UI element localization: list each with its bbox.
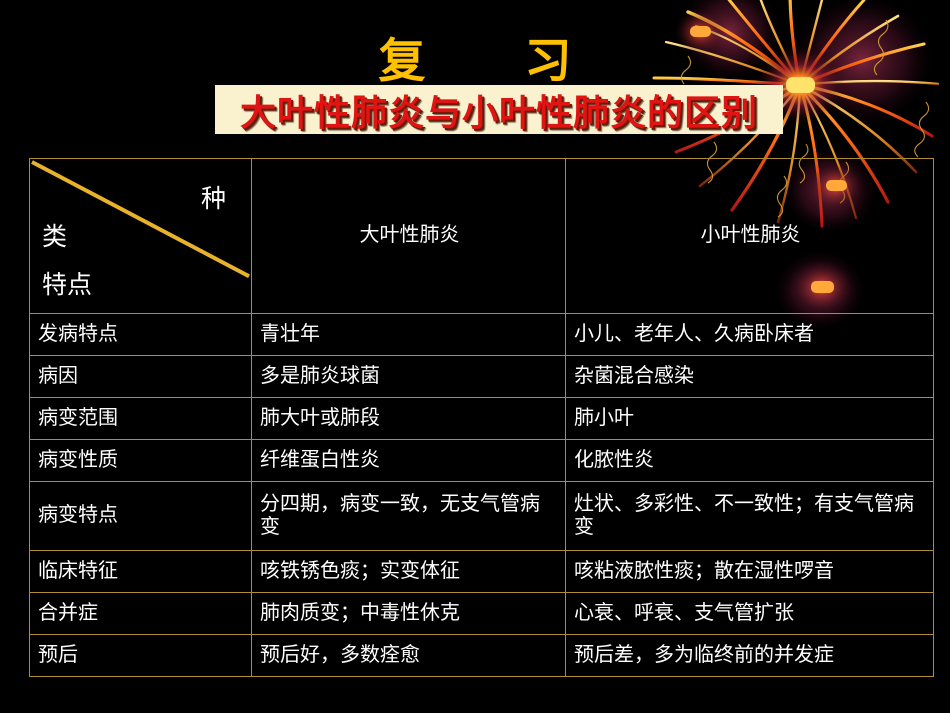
- row-value-lobar: 多是肺炎球菌: [252, 356, 566, 398]
- row-value-lobular: 化脓性炎: [566, 440, 934, 482]
- corner-inner: 种 类 特点: [30, 159, 251, 313]
- row-value-lobar: 青壮年: [252, 314, 566, 356]
- column-header-lobar: 大叶性肺炎: [252, 159, 566, 314]
- corner-label-category-axis: 种: [201, 185, 226, 214]
- row-value-lobular: 心衰、呼衰、支气管扩张: [566, 593, 934, 635]
- table-row: 合并症 肺肉质变；中毒性休克 心衰、呼衰、支气管扩张: [30, 593, 934, 635]
- row-value-lobular: 灶状、多彩性、不一致性；有支气管病变: [566, 482, 934, 551]
- banner-title-text: 大叶性肺炎与小叶性肺炎的区别: [240, 84, 758, 136]
- corner-header-cell: 种 类 特点: [30, 159, 252, 314]
- table-row: 发病特点 青壮年 小儿、老年人、久病卧床者: [30, 314, 934, 356]
- row-value-lobular: 预后差，多为临终前的并发症: [566, 635, 934, 677]
- corner-label-feature: 特点: [42, 271, 92, 300]
- table-row: 病因 多是肺炎球菌 杂菌混合感染: [30, 356, 934, 398]
- row-feature-label: 病变性质: [30, 440, 252, 482]
- table-row: 病变性质 纤维蛋白性炎 化脓性炎: [30, 440, 934, 482]
- table-row: 临床特征 咳铁锈色痰；实变体征 咳粘液脓性痰；散在湿性啰音: [30, 551, 934, 593]
- row-value-lobar: 分四期，病变一致，无支气管病变: [252, 482, 566, 551]
- row-value-lobular: 咳粘液脓性痰；散在湿性啰音: [566, 551, 934, 593]
- column-header-lobular: 小叶性肺炎: [566, 159, 934, 314]
- table-body: 种 类 特点 大叶性肺炎 小叶性肺炎 发病特点 青壮年 小儿、老年人、久病卧床者…: [30, 159, 934, 677]
- row-feature-label: 临床特征: [30, 551, 252, 593]
- row-value-lobar: 肺肉质变；中毒性休克: [252, 593, 566, 635]
- row-value-lobar: 纤维蛋白性炎: [252, 440, 566, 482]
- slide-canvas: 复 习 大叶性肺炎与小叶性肺炎的区别 种 类 特点 大叶性肺炎 小: [0, 0, 950, 713]
- row-feature-label: 发病特点: [30, 314, 252, 356]
- table-row: 预后 预后好，多数痊愈 预后差，多为临终前的并发症: [30, 635, 934, 677]
- table-row: 病变范围 肺大叶或肺段 肺小叶: [30, 398, 934, 440]
- corner-label-type: 类: [42, 223, 67, 252]
- row-value-lobular: 小儿、老年人、久病卧床者: [566, 314, 934, 356]
- table-row: 病变特点 分四期，病变一致，无支气管病变 灶状、多彩性、不一致性；有支气管病变: [30, 482, 934, 551]
- row-value-lobar: 咳铁锈色痰；实变体征: [252, 551, 566, 593]
- row-feature-label: 病因: [30, 356, 252, 398]
- row-feature-label: 预后: [30, 635, 252, 677]
- row-value-lobular: 肺小叶: [566, 398, 934, 440]
- table-header-row: 种 类 特点 大叶性肺炎 小叶性肺炎: [30, 159, 934, 314]
- page-title: 复 习: [0, 22, 950, 91]
- comparison-table: 种 类 特点 大叶性肺炎 小叶性肺炎 发病特点 青壮年 小儿、老年人、久病卧床者…: [29, 158, 934, 677]
- row-value-lobar: 预后好，多数痊愈: [252, 635, 566, 677]
- row-feature-label: 合并症: [30, 593, 252, 635]
- row-feature-label: 病变特点: [30, 482, 252, 551]
- row-value-lobar: 肺大叶或肺段: [252, 398, 566, 440]
- title-banner: 大叶性肺炎与小叶性肺炎的区别: [215, 85, 783, 134]
- row-feature-label: 病变范围: [30, 398, 252, 440]
- row-value-lobular: 杂菌混合感染: [566, 356, 934, 398]
